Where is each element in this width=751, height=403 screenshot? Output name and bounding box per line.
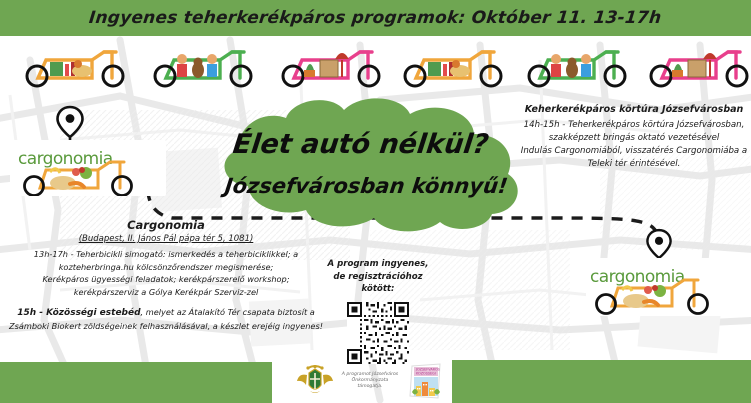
cargonomia-closing-rest: , melyet az Átalakító Tér csapata biztos…	[141, 307, 315, 317]
cargonomia-block-title: Cargonomia	[8, 218, 324, 232]
spacer	[8, 298, 324, 306]
cargonomia-program-block: Cargonomia (Budapest, II. János Pál pápa…	[8, 218, 324, 332]
cargonomia-address: (Budapest, II. János Pál pápa tér 5, 108…	[8, 234, 324, 244]
cargo-bike-groceries-2	[398, 40, 508, 88]
poster-canvas: Ingyenes teherkerékpáros programok: Októ…	[0, 0, 751, 403]
tour-line-4: Teleki tér érintésével.	[520, 158, 748, 171]
svg-text:KOZOSSEGI: KOZOSSEGI	[416, 371, 436, 375]
cargonomia-closing-bold: 15h - Közösségi estebéd	[17, 308, 140, 318]
cargo-bike-groceries	[20, 40, 130, 88]
bottom-green-bar-right	[452, 360, 751, 403]
tour-line-3: Indulás Cargonomiából, visszatérés Cargo…	[520, 145, 748, 158]
jozsefvaros-program-badge-icon: JOZSEFVAROS KOZOSSEGI	[404, 362, 444, 400]
cloud-subheadline: Józsefvárosban könnyű!	[223, 174, 509, 198]
cargonomia-line-3: Kerékpáros ügyességi feladatok; kerékpár…	[8, 273, 324, 286]
registration-block: A program ingyenes, de regisztrációhoz k…	[318, 258, 438, 368]
cargo-bike-strip	[0, 36, 751, 94]
tour-program-block: Keherkerékpáros körtúra Józsefvárosban 1…	[520, 104, 748, 171]
registration-line-1: A program ingyenes,	[318, 258, 438, 271]
cloud-headline: Élet autó nélkül?	[231, 129, 490, 160]
cloud-message: Élet autó nélkül? Józsefvárosban könnyű!	[196, 96, 526, 224]
bottom-green-bar-left	[0, 362, 272, 403]
registration-line-2: de regisztrációhoz kötött:	[318, 271, 438, 296]
map-pin-icon-cargonomia-right	[646, 228, 672, 262]
cargo-bike-children	[148, 40, 258, 88]
jozsefvaros-coat-of-arms-icon	[294, 365, 336, 397]
sponsor-credit-text: A programot Józsefváros Önkormányzata tá…	[341, 372, 399, 390]
cargo-bike-furniture-2	[644, 40, 751, 88]
cargonomia-closing-line-2: Zsámboki Biokert zöldségeinek felhasznál…	[8, 320, 324, 333]
qr-code[interactable]	[347, 302, 409, 364]
cargonomia-closing-line-1: 15h - Közösségi estebéd, melyet az Átala…	[8, 306, 324, 320]
cargonomia-line-4: kerékpárszerviz a Gólya Kerékpár Szerviz…	[8, 286, 324, 299]
svg-text:cargonomia: cargonomia	[590, 267, 685, 287]
cargonomia-line-1: 13h-17h - Teherbicikli simogató: ismerke…	[8, 248, 324, 261]
page-title: Ingyenes teherkerékpáros programok: Októ…	[88, 8, 662, 28]
tour-block-title: Keherkerékpáros körtúra Józsefvárosban	[520, 104, 748, 115]
cargonomia-line-2[interactable]: kozteherbringa.hu kölcsönzőrendszer megi…	[8, 261, 324, 274]
tour-line-2: szakképzett bringás oktató vezetésével	[520, 132, 748, 145]
cargo-bike-children-2	[522, 40, 632, 88]
sponsor-row: A programot Józsefváros Önkormányzata tá…	[272, 358, 452, 403]
cargo-bike-furniture	[276, 40, 386, 88]
header-bar: Ingyenes teherkerékpáros programok: Októ…	[0, 0, 751, 36]
svg-text:cargonomia: cargonomia	[18, 149, 113, 169]
cargonomia-logo-left: cargonomia	[10, 140, 166, 196]
cargonomia-logo-right: cargonomia	[586, 258, 744, 316]
tour-line-1: 14h-15h - Teherkerékpáros körtúra József…	[520, 119, 748, 132]
